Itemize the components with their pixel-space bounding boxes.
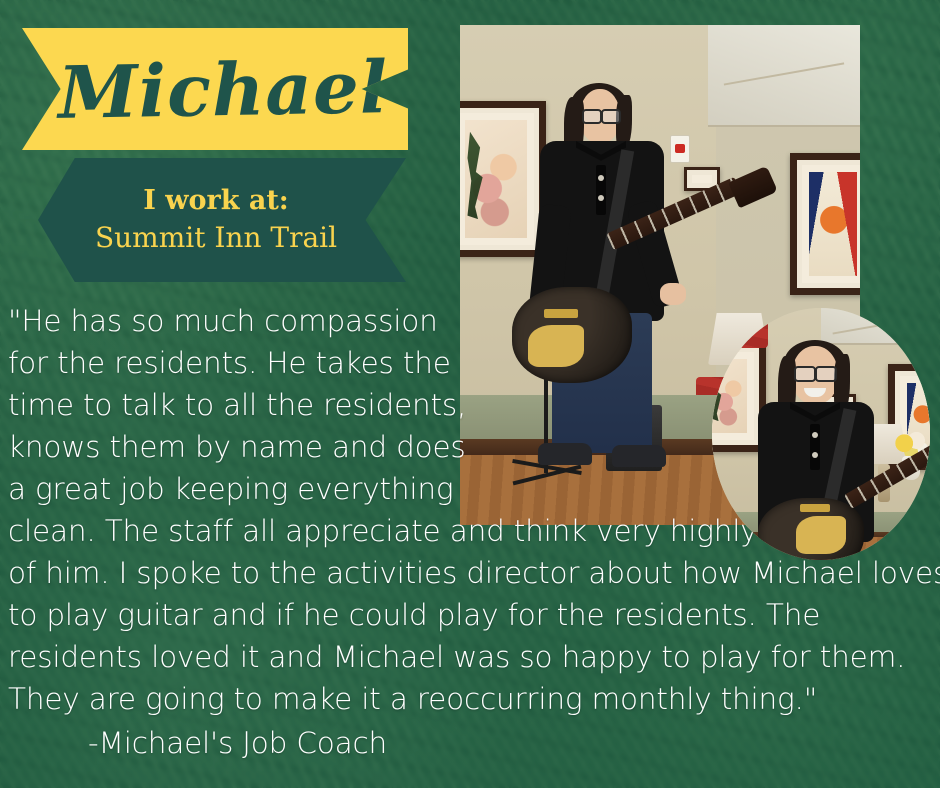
shirt-button-bottom [598,195,604,201]
shirt-button-top [598,175,604,181]
glasses-left-lens [582,109,602,124]
quote-line: to play guitar and if he could play for … [8,594,934,636]
inset-portrait-photo [712,308,930,560]
inset-shirt-button-top [812,432,818,438]
art-canvas-floral [712,359,747,433]
person-name: Michael [57,44,388,135]
inset-guitar-pickup [800,504,830,512]
inset-photo-scene [712,308,930,560]
testimonial-poster: Michael I work at: Summit Inn Trail "He … [0,0,940,788]
quote-attribution: -Michael's Job Coach [8,722,934,764]
plaque-mat [692,175,712,183]
framed-art-right [790,153,860,295]
inset-ceiling [821,308,930,345]
quote-line: residents loved it and Michael was so ha… [8,636,934,678]
inset-glasses-left-lens [794,366,816,382]
employer-name: Summit Inn Trail [95,220,337,257]
glasses-right-lens [601,109,621,124]
art-canvas-abstract [809,172,857,276]
inset-shirt-button-bottom [812,452,818,458]
art-canvas-floral [465,120,527,238]
shirt-placket [596,165,606,215]
quote-line: They are going to make it a reoccurring … [8,678,934,720]
inset-red-chair [712,308,768,348]
work-at-label: I work at: [143,183,289,219]
ceiling [708,25,860,127]
work-ribbon: I work at: Summit Inn Trail [38,158,406,282]
wall-callbox [670,135,690,163]
inset-glasses-right-lens [815,366,837,382]
inset-guitar-pickguard [796,516,846,554]
inset-shirt-placket [810,424,820,470]
name-ribbon: Michael [22,28,408,150]
framed-art-left [460,101,546,257]
